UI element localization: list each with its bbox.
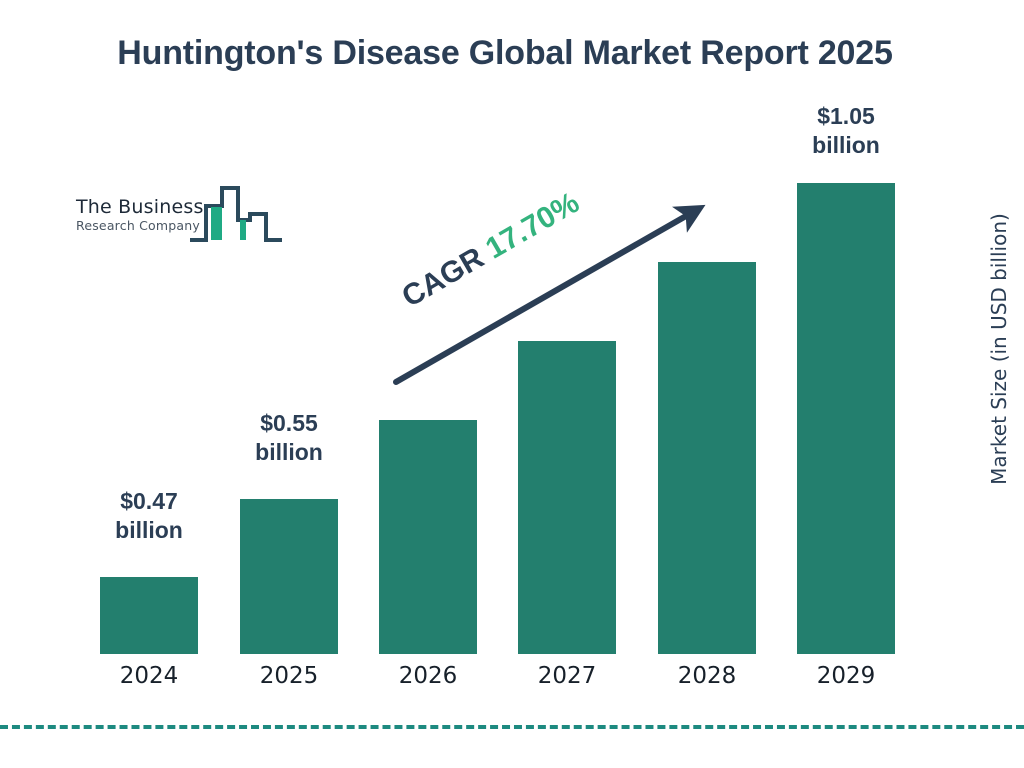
cagr-trend-arrow [0, 0, 1024, 768]
y-axis-title: Market Size (in USD billion) [987, 199, 1011, 499]
chart-canvas: Huntington's Disease Global Market Repor… [0, 0, 1024, 768]
footer-divider [0, 725, 1024, 729]
plot-area: $0.47 billion $0.55 billion $1.05 billio… [0, 0, 1024, 768]
